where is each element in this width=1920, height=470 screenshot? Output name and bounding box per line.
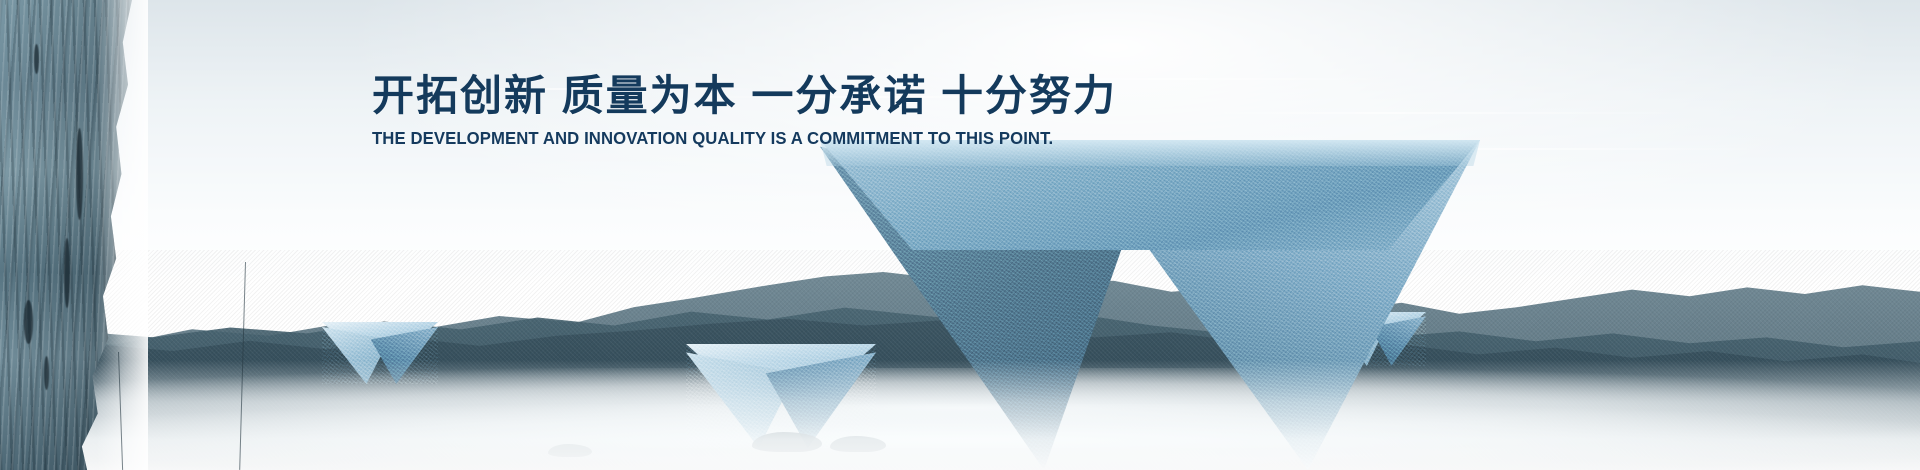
hero-banner: 开拓创新 质量为本 一分承诺 十分努力 THE DEVELOPMENT AND … (0, 0, 1920, 470)
rock-crack (34, 44, 39, 74)
rock-crack (64, 238, 70, 308)
inverted-pyramid-small-left (322, 322, 438, 384)
rock-crack (76, 128, 83, 220)
page-subtitle: THE DEVELOPMENT AND INNOVATION QUALITY I… (372, 128, 1083, 149)
inverted-pyramid-large (820, 140, 1480, 470)
sky-streak (1180, 112, 1700, 114)
foreground-rock (548, 444, 592, 457)
page-title: 开拓创新 质量为本 一分承诺 十分努力 (372, 72, 1117, 119)
rock-crack (24, 300, 33, 344)
banner-text-block: 开拓创新 质量为本 一分承诺 十分努力 THE DEVELOPMENT AND … (372, 72, 1117, 149)
foreground-rock (752, 432, 822, 452)
rock-crack (44, 356, 49, 390)
